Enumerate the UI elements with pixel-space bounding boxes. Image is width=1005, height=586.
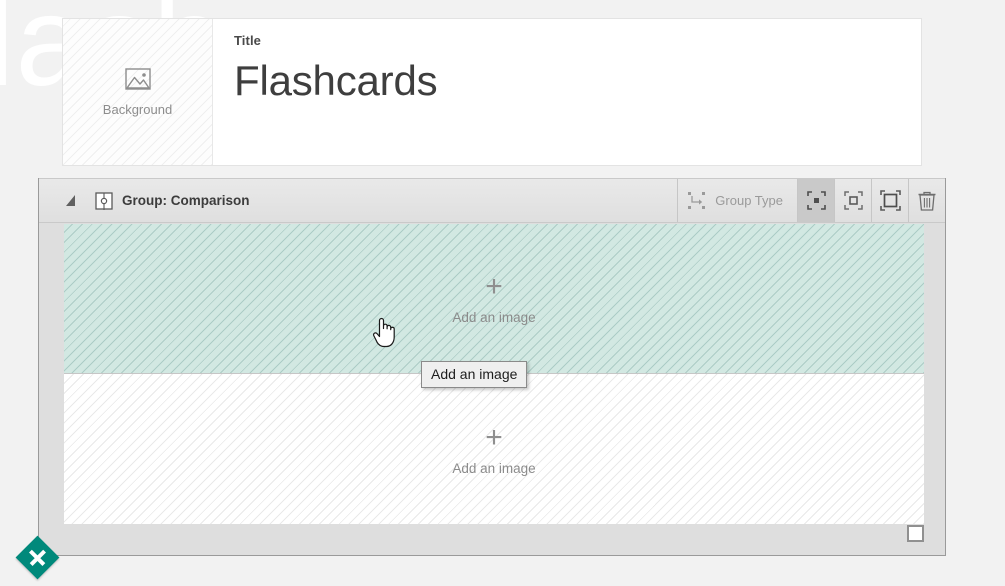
title-field-container: Title Flashcards	[213, 19, 921, 165]
group-title-label: Group: Comparison	[122, 193, 250, 208]
title-card: Background Title Flashcards	[62, 18, 922, 166]
group-header: Group: Comparison Group Ty	[39, 178, 945, 223]
comparison-group-icon	[95, 192, 113, 210]
group-toolbar: Group Type	[677, 179, 945, 222]
group-type-label: Group Type	[715, 193, 783, 208]
tooltip: Add an image	[421, 361, 527, 388]
size-medium-button[interactable]	[834, 179, 871, 222]
group-type-button[interactable]: Group Type	[677, 179, 797, 222]
size-small-icon	[807, 191, 826, 210]
size-large-icon	[880, 190, 901, 211]
background-slot-label: Background	[103, 102, 172, 117]
delete-group-button[interactable]	[908, 179, 945, 222]
background-image-slot[interactable]: Background	[63, 19, 213, 165]
image-placeholder-icon	[125, 68, 151, 90]
title-field-label: Title	[234, 33, 921, 48]
add-image-plus-icon: +	[485, 272, 503, 302]
title-field-value[interactable]: Flashcards	[234, 59, 921, 103]
image-pane-top[interactable]: + Add an image	[64, 224, 924, 374]
collapse-caret-icon[interactable]	[66, 195, 75, 206]
size-small-button[interactable]	[797, 179, 834, 222]
group-type-icon	[688, 192, 707, 209]
trash-icon	[918, 191, 936, 211]
add-image-label: Add an image	[452, 461, 535, 476]
group-select-checkbox[interactable]	[907, 525, 924, 542]
image-pane-bottom[interactable]: + Add an image	[64, 374, 924, 524]
size-large-button[interactable]	[871, 179, 908, 222]
add-image-label: Add an image	[452, 310, 535, 325]
size-medium-icon	[844, 191, 863, 210]
add-image-plus-icon: +	[485, 423, 503, 453]
